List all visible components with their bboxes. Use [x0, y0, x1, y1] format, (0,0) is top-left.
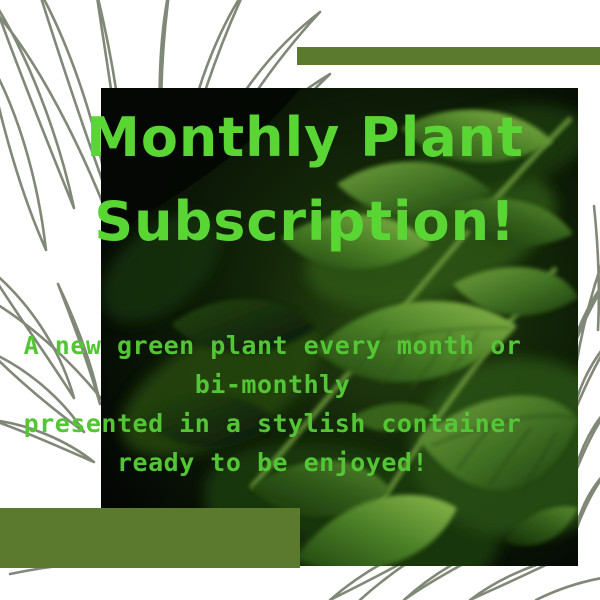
body-line-1: A new green plant every month or [0, 326, 545, 365]
body-copy: A new green plant every month or bi-mont… [0, 326, 545, 482]
text-layer: Monthly Plant Subscription! A new green … [0, 0, 600, 600]
headline-line-1: Monthly Plant [55, 96, 555, 180]
body-line-3: presented in a stylish container [0, 404, 545, 443]
body-line-4: ready to be enjoyed! [0, 443, 545, 482]
body-line-2: bi-monthly [0, 365, 545, 404]
page-title: Monthly Plant Subscription! [55, 96, 555, 263]
poster-canvas: Monthly Plant Subscription! A new green … [0, 0, 600, 600]
headline-line-2: Subscription! [55, 180, 555, 264]
